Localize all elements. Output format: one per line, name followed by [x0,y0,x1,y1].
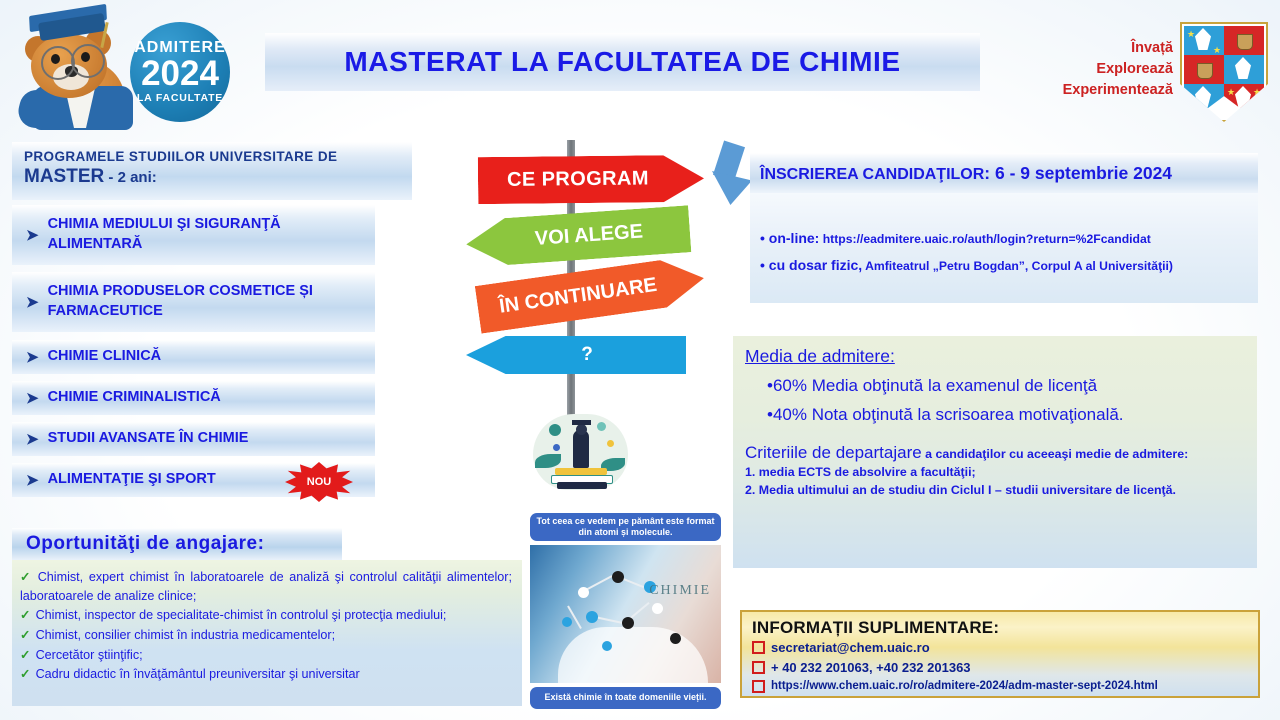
inscriere-title-date: : 6 - 9 septembrie 2024 [984,163,1172,183]
slogan-block: Învață Explorează Experimentează [1018,38,1173,101]
media-bullet-2: •40% Nota obţinută la scrisoarea motivaţ… [767,405,1247,425]
page-title-bar: MASTERAT LA FACULTATEA DE CHIMIE [265,33,980,91]
program-item-3[interactable]: ➤ CHIMIE CLINICĂ [12,340,375,374]
program-item-1[interactable]: ➤ CHIMIA MEDIULUI ŞI SIGURANŢĂ ALIMENTAR… [12,205,375,265]
program-item-label: CHIMIE CRIMINALISTICĂ [48,388,221,408]
chevron-right-icon: ➤ [26,350,39,365]
info-row-url: https://www.chem.uaic.ro/ro/admitere-202… [752,678,1250,695]
arrow-label: ÎN CONTINUARE [477,267,706,322]
opportunity-label: Cercetător ştiinţific; [36,648,143,662]
info-row-email: secretariat@chem.uaic.ro [752,638,1250,658]
inscriere-heading: ÎNSCRIEREA CANDIDAŢILOR: 6 - 9 septembri… [750,153,1258,193]
page-title: MASTERAT LA FACULTATEA DE CHIMIE [344,46,900,78]
media-bullet-1: •60% Media obţinută la examenul de licen… [767,376,1247,396]
slogan-line-2: Explorează [1018,59,1173,80]
list-item: ✓Cadru didactic în învăţământul preunive… [20,665,512,684]
slogan-line-3: Experimentează [1018,80,1173,101]
opportunity-label: Chimist, consilier chimist în industria … [36,628,336,642]
info-suplimentare-box: INFORMAȚII SUPLIMENTARE: secretariat@che… [740,610,1260,698]
list-item: ✓Cercetător ştiinţific; [20,646,512,665]
inscriere-row-fizic: • cu dosar fizic, Amfiteatrul „Petru Bog… [760,252,1246,279]
chevron-right-icon: ➤ [26,228,39,243]
info-url[interactable]: https://www.chem.uaic.ro/ro/admitere-202… [771,678,1158,695]
inscriere-body: • on-line: https://eadmitere.uaic.ro/aut… [750,193,1258,303]
info-email[interactable]: secretariat@chem.uaic.ro [771,638,930,658]
inscriere-online-url[interactable]: https://eadmitere.uaic.ro/auth/login?ret… [823,232,1151,246]
badge-line3: LA FACULTATE [137,93,223,104]
check-icon: ✓ [20,628,31,642]
programs-heading-master: MASTER [24,166,104,187]
chevron-right-icon: ➤ [26,391,39,406]
criteria-block: Criteriile de departajare a candidaţilor… [745,441,1247,499]
arrow-label: ? [466,344,686,366]
criteria-item-2: 2. Media ultimului an de studiu din Cicl… [745,482,1247,499]
caption-top: Tot ceea ce vedem pe pământ este format … [530,513,721,541]
arrow-label: VOI ALEGE [465,217,690,256]
inscriere-row-online: • on-line: https://eadmitere.uaic.ro/aut… [760,225,1246,252]
opportunities-heading-label: Oportunităţi de angajare: [26,533,264,555]
square-bullet-icon [752,661,765,674]
inscriere-fizic-value: Amfiteatrul „Petru Bogdan”, Corpul A al … [865,259,1173,273]
chevron-right-icon: ➤ [26,295,39,310]
opportunities-heading: Oportunităţi de angajare: [12,528,342,560]
poster-root: ADMITERE 2024 LA FACULTATE MASTERAT LA F… [0,0,1280,720]
opportunity-label: Cadru didactic în învăţământul preuniver… [36,667,360,681]
program-item-label: STUDII AVANSATE ÎN CHIMIE [48,429,249,449]
signpost-arrow-question: ? [466,336,686,374]
opportunities-body: ✓Chimist, expert chimist în laboratoarel… [12,560,522,706]
inscriere-title-main: ÎNSCRIEREA CANDIDAŢILOR [760,166,984,183]
check-icon: ✓ [20,570,33,584]
slogan-line-1: Învață [1018,38,1173,59]
criteria-title-row: Criteriile de departajare a candidaţilor… [745,441,1247,464]
molecule-photo: CHIMIE [530,545,721,683]
arrow-label: CE PROGRAM [478,167,704,192]
program-item-label: CHIMIA PRODUSELOR COSMETICE ȘI FARMACEUT… [48,282,375,321]
chevron-right-icon: ➤ [26,432,39,447]
inscriere-fizic-label: • cu dosar fizic, [760,257,862,273]
signpost-arrow-voi-alege: VOI ALEGE [465,205,692,268]
university-crest-icon: ★ ★ ★ ★ [1180,22,1264,118]
square-bullet-icon [752,641,765,654]
criteria-rest: a candidaţilor cu aceeaşi medie de admit… [922,447,1189,461]
graduate-illustration-icon [533,410,628,495]
program-item-label: CHIMIA MEDIULUI ŞI SIGURANŢĂ ALIMENTARĂ [48,215,375,254]
check-icon: ✓ [20,608,31,622]
programs-heading: PROGRAMELE STUDIILOR UNIVERSITARE DE MAS… [12,142,412,200]
admitere-badge: ADMITERE 2024 LA FACULTATE [130,22,230,122]
programs-heading-line1: PROGRAMELE STUDIILOR UNIVERSITARE DE [24,149,412,164]
signpost-arrow-ce-program: CE PROGRAM [478,155,704,204]
programs-heading-line2: MASTER - 2 ani: [24,166,412,188]
inscriere-online-label: • on-line: [760,230,819,246]
list-item: ✓Chimist, inspector de specialitate-chim… [20,606,512,625]
info-row-phone: + 40 232 201063, +40 232 201363 [752,658,1250,678]
chevron-right-icon: ➤ [26,473,39,488]
list-item: ✓Chimist, consilier chimist în industria… [20,626,512,645]
photo-word: CHIMIE [649,583,711,599]
program-item-label: ALIMENTAŢIE ŞI SPORT [48,470,216,490]
criteria-title: Criteriile de departajare [745,443,922,462]
program-item-5[interactable]: ➤ STUDII AVANSATE ÎN CHIMIE [12,422,375,456]
opportunity-label: Chimist, expert chimist în laboratoarele… [20,570,512,603]
program-item-2[interactable]: ➤ CHIMIA PRODUSELOR COSMETICE ȘI FARMACE… [12,272,375,332]
media-admitere-box: Media de admitere: •60% Media obţinută l… [733,336,1257,568]
check-icon: ✓ [20,667,31,681]
list-item: ✓Chimist, expert chimist în laboratoarel… [20,568,512,605]
mascot-logo: ADMITERE 2024 LA FACULTATE [18,8,253,118]
inscriere-title: ÎNSCRIEREA CANDIDAŢILOR: 6 - 9 septembri… [760,163,1172,184]
check-icon: ✓ [20,648,31,662]
criteria-item-1: 1. media ECTS de absolvire a facultăţii; [745,464,1247,481]
programs-heading-years: - 2 ani: [104,169,157,186]
program-item-label: CHIMIE CLINICĂ [48,347,162,367]
opportunity-label: Chimist, inspector de specialitate-chimi… [36,608,447,622]
info-heading: INFORMAȚII SUPLIMENTARE: [752,618,1250,638]
square-bullet-icon [752,680,765,693]
bear-mascot-icon [23,20,143,120]
media-heading: Media de admitere: [745,346,1247,367]
signpost-arrow-in-continuare: ÎN CONTINUARE [475,254,707,333]
caption-bottom: Există chimie în toate domeniile vieții. [530,687,721,709]
info-phone: + 40 232 201063, +40 232 201363 [771,658,971,678]
program-item-4[interactable]: ➤ CHIMIE CRIMINALISTICĂ [12,381,375,415]
badge-line2: 2024 [141,56,219,93]
